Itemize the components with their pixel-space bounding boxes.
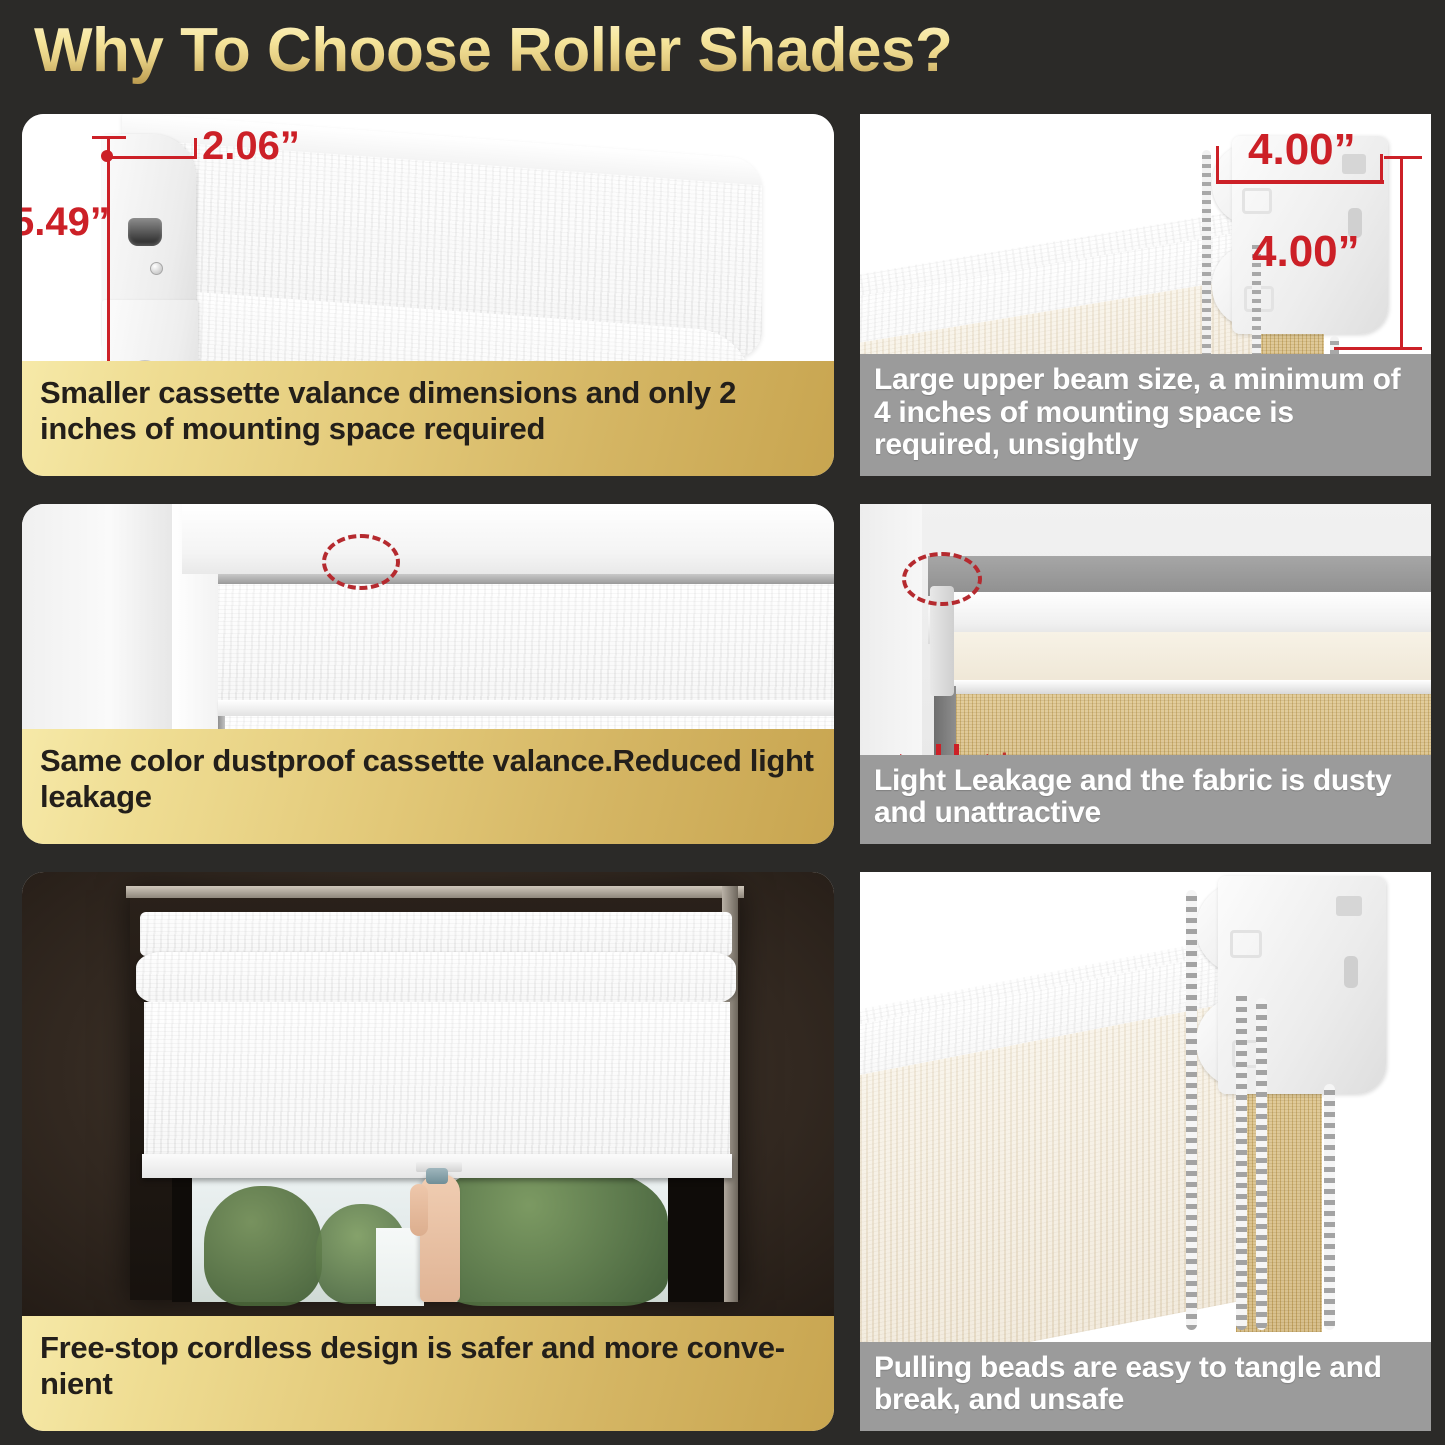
window-head-trim	[126, 886, 744, 898]
photo-room-window-scene	[22, 872, 834, 1316]
cell-row3-good: Free-stop cordless design is safer and m…	[0, 858, 852, 1445]
valance-pin-icon	[128, 360, 162, 361]
dim-vline-549	[107, 136, 110, 361]
dim-vline-400	[1400, 156, 1403, 350]
dimension-label-width-400: 4.00”	[1248, 128, 1356, 172]
cassette-top-edge	[218, 574, 834, 584]
sky-gap	[376, 1228, 424, 1306]
room-shade-valance	[140, 912, 732, 956]
window-frame-left	[22, 504, 182, 729]
cell-row1-good: 5.49” 2.06” Smaller cassette valance dim…	[0, 100, 852, 490]
caption-light-leakage: Light Leakage and the fabric is dusty an…	[860, 755, 1431, 844]
dim-vtick-top-400	[1384, 156, 1422, 159]
shade-fabric-white	[222, 716, 834, 729]
cell-row1-bad: 4.00” 4.00” Large upper beam size, a min…	[852, 100, 1445, 490]
dim-htick-left-400	[1216, 146, 1219, 182]
panel-dustproof-valance[interactable]: smaller gap Same color dustproof cassett…	[22, 504, 834, 844]
gap-tick-left	[936, 744, 941, 755]
caption-large-beam: Large upper beam size, a minimum of 4 in…	[860, 354, 1431, 476]
window-head-trim	[182, 504, 834, 574]
caption-cordless-design: Free-stop cordless design is safer and m…	[22, 1316, 834, 1431]
dim-hline-400	[1216, 180, 1384, 184]
room-shade-roller-tube	[136, 952, 736, 1004]
window-sash-left	[172, 1160, 192, 1302]
beam-bottom-lip	[950, 680, 1431, 694]
cassette-valance-face	[218, 584, 834, 702]
photo-large-upper-beam: 4.00” 4.00”	[860, 114, 1431, 354]
dimension-label-width: 2.06”	[202, 126, 300, 166]
dim-origin-dot	[101, 150, 113, 162]
comparison-grid: 5.49” 2.06” Smaller cassette valance dim…	[0, 100, 1445, 1445]
valance-lower-bracket	[102, 300, 198, 361]
rail-handle-tab	[426, 1168, 448, 1184]
photo-cassette-valance: 5.49” 2.06”	[22, 114, 834, 361]
room-shade-fabric	[144, 1002, 730, 1164]
bead-chain-4	[1324, 1084, 1335, 1330]
caption-smaller-cassette: Smaller cassette valance dimensions and …	[22, 361, 834, 476]
dimension-label-height-400: 4.00”	[1252, 230, 1360, 274]
page-title: Why To Choose Roller Shades?	[34, 15, 952, 86]
wall-left	[860, 504, 922, 755]
valance-screw-icon	[150, 262, 163, 275]
tree-right-cluster	[436, 1166, 668, 1306]
gap-arrow-right-icon	[900, 754, 922, 755]
photo-tan-shade-gap: Large gap	[860, 504, 1431, 755]
gap-tick-right	[954, 744, 959, 755]
cassette-bottom-lip	[218, 700, 834, 716]
bead-chain-2	[1236, 990, 1247, 1330]
page-header: Why To Choose Roller Shades?	[0, 0, 1445, 100]
gap-label-large: Large gap	[1000, 748, 1153, 755]
beam-bead-chain-3	[1330, 336, 1339, 354]
beam-bead-chain-1	[1202, 150, 1211, 354]
bead-chain-1	[1186, 890, 1197, 1330]
panel-pulling-beads[interactable]: Pulling beads are easy to tangle and bre…	[860, 872, 1431, 1431]
cell-row3-bad: Pulling beads are easy to tangle and bre…	[852, 858, 1445, 1445]
panel-smaller-cassette[interactable]: 5.49” 2.06” Smaller cassette valance dim…	[22, 114, 834, 476]
tree-left	[204, 1186, 322, 1306]
dim-htick-right	[194, 138, 197, 158]
window-sash-right	[668, 1160, 724, 1302]
dim-vtick-bottom-400	[1334, 347, 1422, 350]
hand-pulling-rail	[420, 1174, 460, 1302]
gap-arrow-left-icon	[966, 754, 988, 755]
dim-vtick-top	[92, 136, 126, 139]
caption-dustproof-valance: Same color dustproof cassette valance.Re…	[22, 729, 834, 844]
valance-slot	[128, 218, 162, 246]
dim-hline-206	[107, 156, 197, 159]
cell-row2-bad: Large gap Light Leakage and the fabric i…	[852, 490, 1445, 858]
highlight-ellipse-icon	[322, 534, 400, 590]
panel-large-beam[interactable]: 4.00” 4.00” Large upper beam size, a min…	[860, 114, 1431, 476]
highlight-ellipse-icon	[902, 552, 982, 606]
beam-shadow-top	[928, 556, 1431, 596]
bead-chain-3	[1256, 998, 1267, 1330]
photo-white-window-cassette: smaller gap	[22, 504, 834, 729]
smaller-gap-strip	[218, 716, 225, 729]
panel-light-leakage[interactable]: Large gap Light Leakage and the fabric i…	[860, 504, 1431, 844]
dim-htick-right-400	[1380, 154, 1383, 184]
panel-cordless-design[interactable]: Free-stop cordless design is safer and m…	[22, 872, 834, 1431]
caption-pulling-beads: Pulling beads are easy to tangle and bre…	[860, 1342, 1431, 1431]
dimension-label-height: 5.49”	[22, 202, 110, 242]
cell-row2-good: smaller gap Same color dustproof cassett…	[0, 490, 852, 858]
cream-fabric-band	[950, 632, 1431, 684]
photo-bead-chain-shade	[860, 872, 1431, 1342]
